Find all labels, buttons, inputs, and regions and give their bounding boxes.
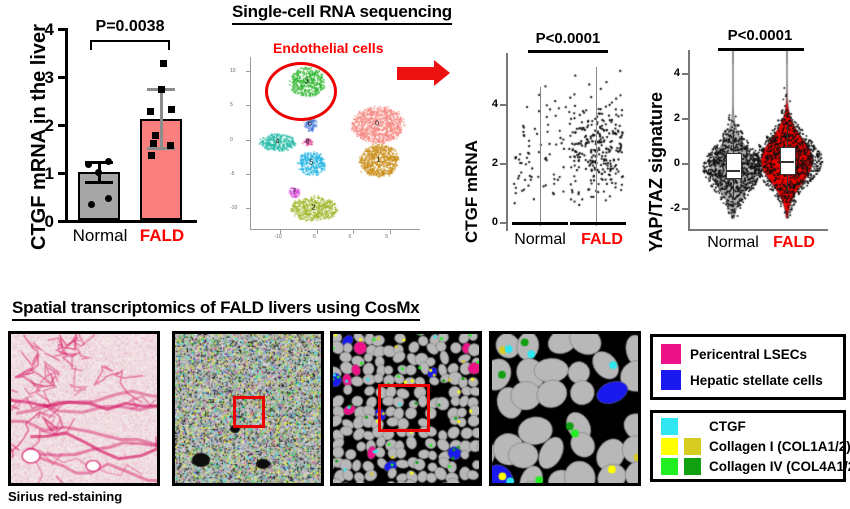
panelC-spine-fald [596, 67, 597, 226]
data-point [105, 158, 112, 165]
legend-label-pericentral-lsecs: Pericentral LSECs [690, 347, 807, 362]
scrna-section-title: Single-cell RNA sequencing [232, 2, 452, 25]
data-point [105, 195, 112, 202]
umap-cluster-label-0: 0 [375, 121, 379, 128]
umap-xtick [317, 230, 318, 234]
panelD-median-normal [726, 170, 740, 172]
image-panel-cosmx-raw [172, 331, 324, 486]
swatch-collagen4-light [661, 458, 678, 475]
data-point [168, 106, 175, 113]
umap-cluster-label-1: 1 [377, 157, 381, 164]
umap-ytick [246, 140, 250, 141]
umap-ytick-label: 10 [230, 68, 236, 74]
endothelial-highlight-ellipse [265, 62, 337, 121]
panelA-category-normal: Normal [64, 226, 136, 246]
swatch-ctgf-spacer [684, 418, 701, 435]
panelC-pvalue: P<0.0001 [508, 30, 628, 47]
swatch-collagen1-dark [684, 438, 701, 455]
panelD-significance-bar [718, 48, 804, 51]
legend-item-collagen-iv: Collagen IV (COL4A1/2) [661, 458, 843, 475]
significance-bracket [90, 40, 170, 50]
umap-cluster-label-8: 8 [306, 138, 310, 145]
data-point [148, 152, 155, 159]
panelD-violin-canvas [630, 20, 850, 265]
umap-xtick [353, 230, 354, 234]
image-panel-cosmx-segmented [330, 331, 482, 486]
panelA-tick-1 [58, 172, 66, 175]
umap-ytick-label: 5 [230, 102, 233, 108]
panelA-tick-0 [58, 220, 66, 223]
panelA-tick-label-1: 1 [34, 164, 54, 184]
umap-ytick [246, 208, 250, 209]
data-point [95, 169, 102, 176]
data-point [152, 132, 159, 139]
data-point [150, 140, 157, 147]
umap-xtick-label: 5 [385, 234, 388, 240]
legend-genes: CTGF Collagen I (COL1A1/2) Collagen IV (… [650, 410, 846, 482]
umap-ytick-label: 0 [230, 137, 233, 143]
panelD-category-normal: Normal [696, 234, 770, 252]
panelC-baseline-normal [512, 222, 568, 225]
data-point [158, 86, 165, 93]
swatch-hepatic-stellate-cells [661, 370, 681, 390]
image-panel-sirius-red [8, 331, 160, 486]
panelD-median-fald [780, 161, 794, 163]
legend-cell-types: Pericentral LSECs Hepatic stellate cells [650, 334, 846, 400]
umap-cluster-label-7: 7 [292, 188, 296, 195]
sirius-red-caption: Sirius red-staining [8, 489, 122, 504]
panelA-x-axis [65, 220, 197, 223]
umap-xtick-label: 0 [348, 234, 351, 240]
legend-item-hepatic-stellate-cells: Hepatic stellate cells [661, 370, 843, 390]
data-point [167, 142, 174, 149]
swatch-pericentral-lsecs [661, 344, 681, 364]
swatch-ctgf [661, 418, 678, 435]
panelA-tick-label-3: 3 [34, 68, 54, 88]
panel-yaptaz-violin: YAP/TAZ signature -2 0 2 4 P<0.0001 Norm… [630, 20, 850, 265]
legend-label-collagen-iv: Collagen IV (COL4A1/2) [709, 459, 850, 474]
data-point [85, 161, 92, 168]
endothelial-cells-callout: Endothelial cells [273, 40, 383, 56]
umap-ytick [246, 71, 250, 72]
panel-ctgf-bar-chart: CTGF mRNA in the liver 0 1 2 3 4 P=0.003… [0, 10, 215, 260]
umap-cluster-label-4: 4 [275, 138, 279, 145]
errorbar-fald-stem [160, 88, 163, 150]
umap-xtick-label: -10 [275, 234, 282, 240]
umap-cluster-label-2: 2 [312, 205, 316, 212]
panel-ctgf-mrna-dotplot: CTGF mRNA 0 2 4 P<0.0001 Normal FALD [450, 25, 635, 260]
umap-cluster-label-5: 5 [309, 159, 313, 166]
image-panel-cosmx-zoom [489, 331, 641, 486]
swatch-collagen1-light [661, 438, 678, 455]
panelA-tick-2 [58, 124, 66, 127]
errorbar-normal-cap-bottom [85, 181, 113, 184]
umap-cluster-label-6: 6 [308, 120, 312, 127]
umap-ytick-label: -10 [230, 205, 237, 211]
legend-label-ctgf: CTGF [709, 419, 746, 434]
swatch-collagen4-dark [684, 458, 701, 475]
legend-item-pericentral-lsecs: Pericentral LSECs [661, 344, 843, 364]
legend-item-collagen-i: Collagen I (COL1A1/2) [661, 438, 843, 455]
legend-item-ctgf: CTGF [661, 418, 843, 435]
panelA-tick-3 [58, 76, 66, 79]
legend-label-hepatic-stellate-cells: Hepatic stellate cells [690, 373, 823, 388]
panelD-box-normal [726, 153, 742, 179]
panelA-category-fald: FALD [130, 226, 194, 246]
flow-arrow-icon [397, 60, 453, 86]
spatial-section-title: Spatial transcriptomics of FALD livers u… [12, 298, 420, 321]
panelC-category-fald: FALD [572, 231, 632, 249]
panelD-pvalue: P<0.0001 [700, 27, 820, 44]
panelC-category-normal: Normal [504, 231, 576, 249]
panelA-tick-4 [58, 28, 66, 31]
umap-ytick [246, 105, 250, 106]
legend-label-collagen-i: Collagen I (COL1A1/2) [709, 439, 850, 454]
umap-xtick [390, 230, 391, 234]
sirius-red-canvas [11, 334, 157, 483]
panelA-tick-label-2: 2 [34, 116, 54, 136]
panelA-tick-label-4: 4 [34, 20, 54, 40]
roi-box-panel3 [378, 384, 430, 432]
roi-box-panel2 [233, 396, 265, 428]
umap-ytick [246, 174, 250, 175]
panelC-significance-bar [528, 50, 608, 53]
panelD-category-fald: FALD [763, 234, 825, 252]
panelC-baseline-fald [570, 222, 626, 225]
data-point [160, 60, 167, 67]
cosmx-zoom-canvas [492, 334, 638, 483]
umap-xtick-label: -5 [312, 234, 316, 240]
panelA-tick-label-0: 0 [34, 212, 54, 232]
umap-ytick-label: -5 [230, 171, 234, 177]
data-point [88, 201, 95, 208]
data-point [147, 108, 154, 115]
panelA-pvalue: P=0.0038 [70, 18, 190, 36]
panelC-spine-normal [540, 87, 541, 226]
